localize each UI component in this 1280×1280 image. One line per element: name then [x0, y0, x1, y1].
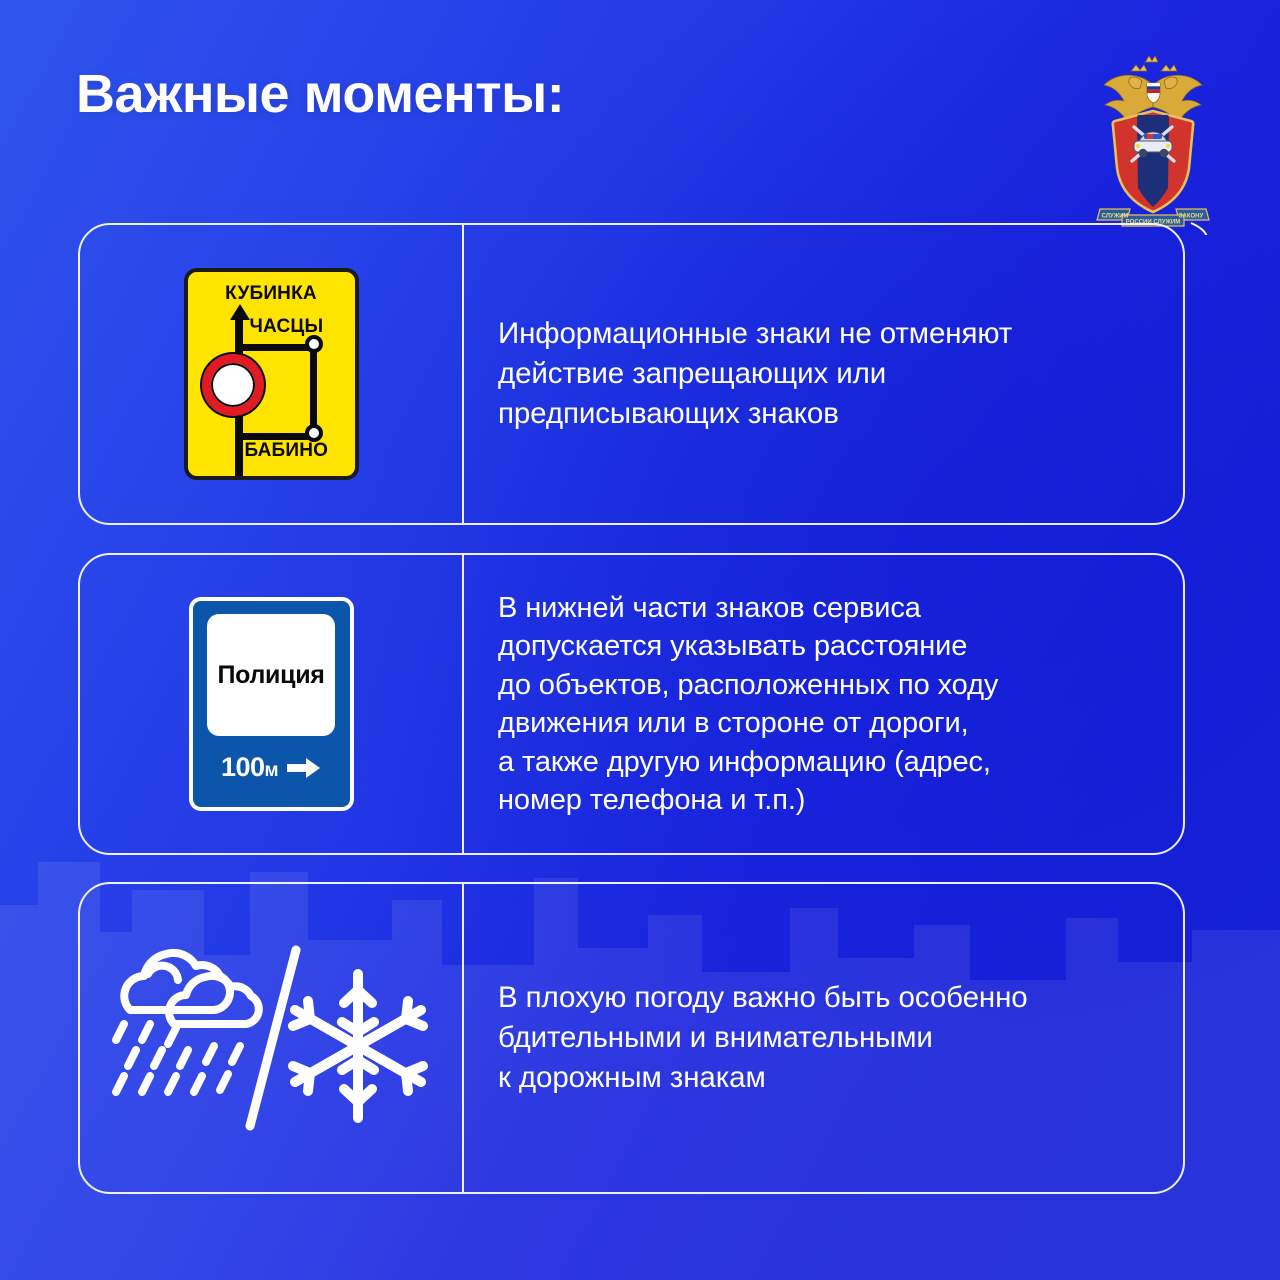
- arrow-right-icon: [287, 757, 321, 779]
- detour-node-bottom: [305, 424, 323, 442]
- detour-sign-label-top: КУБИНКА: [225, 283, 317, 305]
- emblem-motto-left: СЛУЖИМ: [1102, 213, 1129, 219]
- card-2-icon-cell: Полиция 100м: [80, 555, 462, 853]
- rain-streaks-icon: [116, 1024, 240, 1092]
- rain-cloud-icon: [124, 953, 259, 1024]
- police-service-sign: Полиция 100м: [189, 597, 354, 811]
- info-card-1: КУБИНКА ЧАСЦЫ БАБИНО Информационные знак…: [78, 223, 1185, 525]
- distance-unit: м: [265, 760, 279, 781]
- mvd-traffic-police-emblem: СЛУЖИМ РОССИИ СЛУЖИМ ЗАКОНУ: [1094, 55, 1212, 235]
- detour-route-sign: КУБИНКА ЧАСЦЫ БАБИНО: [184, 268, 359, 480]
- emblem-motto-right: ЗАКОНУ: [1179, 213, 1204, 219]
- card-3-text: В плохую погоду важно быть особенно бдит…: [498, 978, 1149, 1098]
- card-1-text: Информационные знаки не отменяют действи…: [498, 314, 1149, 434]
- bad-weather-rain-snow-icon: [106, 928, 436, 1148]
- snowflake-icon: [293, 974, 423, 1118]
- slash-separator-icon: [250, 950, 296, 1126]
- card-3-text-cell: В плохую погоду важно быть особенно бдит…: [464, 884, 1183, 1192]
- police-sign-distance: 100м: [221, 752, 278, 783]
- no-entry-prohibition-circle-icon: [202, 354, 264, 416]
- police-sign-panel: Полиция: [207, 614, 335, 736]
- detour-sign-label-bottom: БАБИНО: [245, 440, 329, 462]
- card-2-text: В нижней части знаков сервиса допускаетс…: [498, 589, 1149, 820]
- card-3-icon-cell: [80, 884, 462, 1192]
- detour-node-top: [305, 335, 323, 353]
- card-1-text-cell: Информационные знаки не отменяют действи…: [464, 225, 1183, 523]
- card-2-text-cell: В нижней части знаков сервиса допускаетс…: [464, 555, 1183, 853]
- detour-arrow-up-icon: [230, 304, 250, 320]
- page-title: Важные моменты:: [76, 63, 564, 125]
- header: Важные моменты:: [0, 0, 1280, 212]
- info-card-3: В плохую погоду важно быть особенно бдит…: [78, 882, 1185, 1194]
- police-sign-distance-row: 100м: [221, 752, 321, 783]
- info-card-2: Полиция 100м В нижней части знаков серви…: [78, 553, 1185, 855]
- police-sign-label: Полиция: [217, 661, 324, 690]
- card-1-icon-cell: КУБИНКА ЧАСЦЫ БАБИНО: [80, 225, 462, 523]
- distance-value: 100: [221, 752, 265, 782]
